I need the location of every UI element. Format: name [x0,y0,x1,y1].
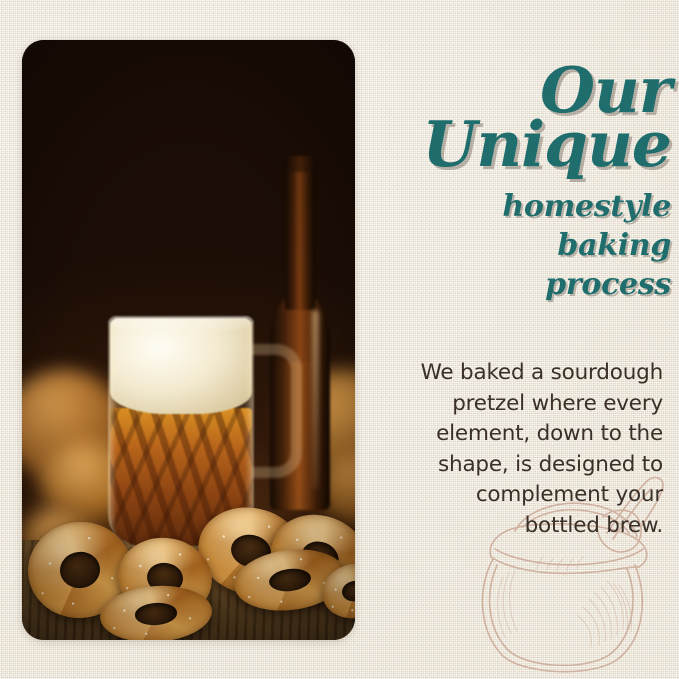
body-line: bottled brew. [390,511,663,542]
subheadline-line-process: process [368,266,671,303]
headline-block: Our Unique homestyle baking process [368,62,671,303]
body-line: pretzel where every [390,389,663,420]
headline-line-unique: Unique [368,116,671,174]
mug-right-edge-highlight [245,320,254,538]
bottle-cap [284,156,316,172]
bottle-highlight [312,310,319,490]
bottle-neck [285,160,315,310]
subheadline-line-homestyle: homestyle [368,188,671,225]
body-line: shape, is designed to [390,450,663,481]
body-line: We baked a sourdough [390,358,663,389]
body-line: element, down to the [390,419,663,450]
body-paragraph: We baked a sourdough pretzel where every… [390,358,663,541]
promo-card: Our Unique homestyle baking process We b… [0,0,679,679]
mug-rim [108,316,254,332]
body-line: complement your [390,480,663,511]
subheadline-line-baking: baking [368,227,671,264]
beer-foam-head [110,318,252,414]
mug-left-edge-highlight [108,320,116,538]
product-photo [22,40,355,640]
text-column: Our Unique homestyle baking process We b… [368,0,679,679]
